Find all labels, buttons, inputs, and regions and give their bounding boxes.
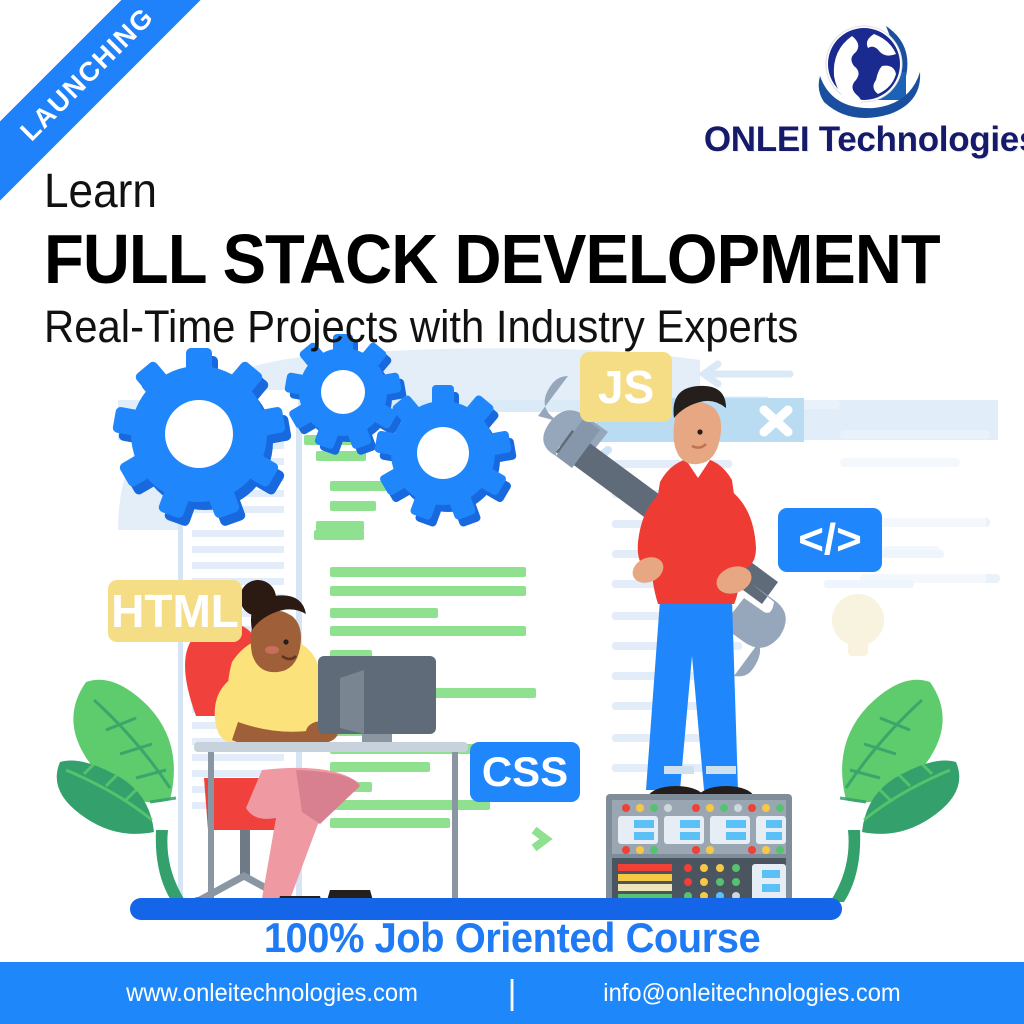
hair-bun [240,580,276,616]
desk-top [194,742,468,752]
eye [697,429,702,434]
blush [265,646,279,654]
badge-html: HTML [108,580,242,642]
monitor-stand [362,734,392,742]
monitor [318,656,436,734]
desk-leg-right [452,752,458,904]
launching-ribbon: LAUNCHING [0,0,260,260]
badge-css-label: CSS [482,748,568,796]
footer-website[interactable]: www.onleitechnologies.com [73,979,472,1008]
hero-illustration: HTML JS CSS </> [0,330,1024,920]
footer-bar: www.onleitechnologies.com | info@onleite… [0,962,1024,1024]
logo-wordmark: ONLEI Technologies [704,120,1024,160]
badge-code-icon: </> [778,508,882,572]
chair-post [240,830,250,876]
poster-root: LAUNCHING ONLEI Technologies Learn FULL … [0,0,1024,1024]
seated-eye [283,639,288,644]
ribbon-band: LAUNCHING [0,0,223,210]
footer-email[interactable]: info@onleitechnologies.com [553,979,952,1008]
badge-js: JS [580,352,672,422]
footer-divider: | [482,974,542,1013]
badge-code-label: </> [798,515,862,565]
ribbon-label: LAUNCHING [14,1,160,147]
brand-logo: ONLEI Technologies [726,12,1016,164]
headline-subtitle: Real-Time Projects with Industry Experts [44,302,940,352]
badge-html-label: HTML [111,584,239,638]
desk-leg-left [208,752,214,904]
cta-label: 100% Job Oriented Course [26,914,999,962]
plant-left [57,680,186,902]
badge-css: CSS [470,742,580,802]
badge-js-label: JS [598,360,654,414]
globe-orbit-icon [812,12,930,124]
